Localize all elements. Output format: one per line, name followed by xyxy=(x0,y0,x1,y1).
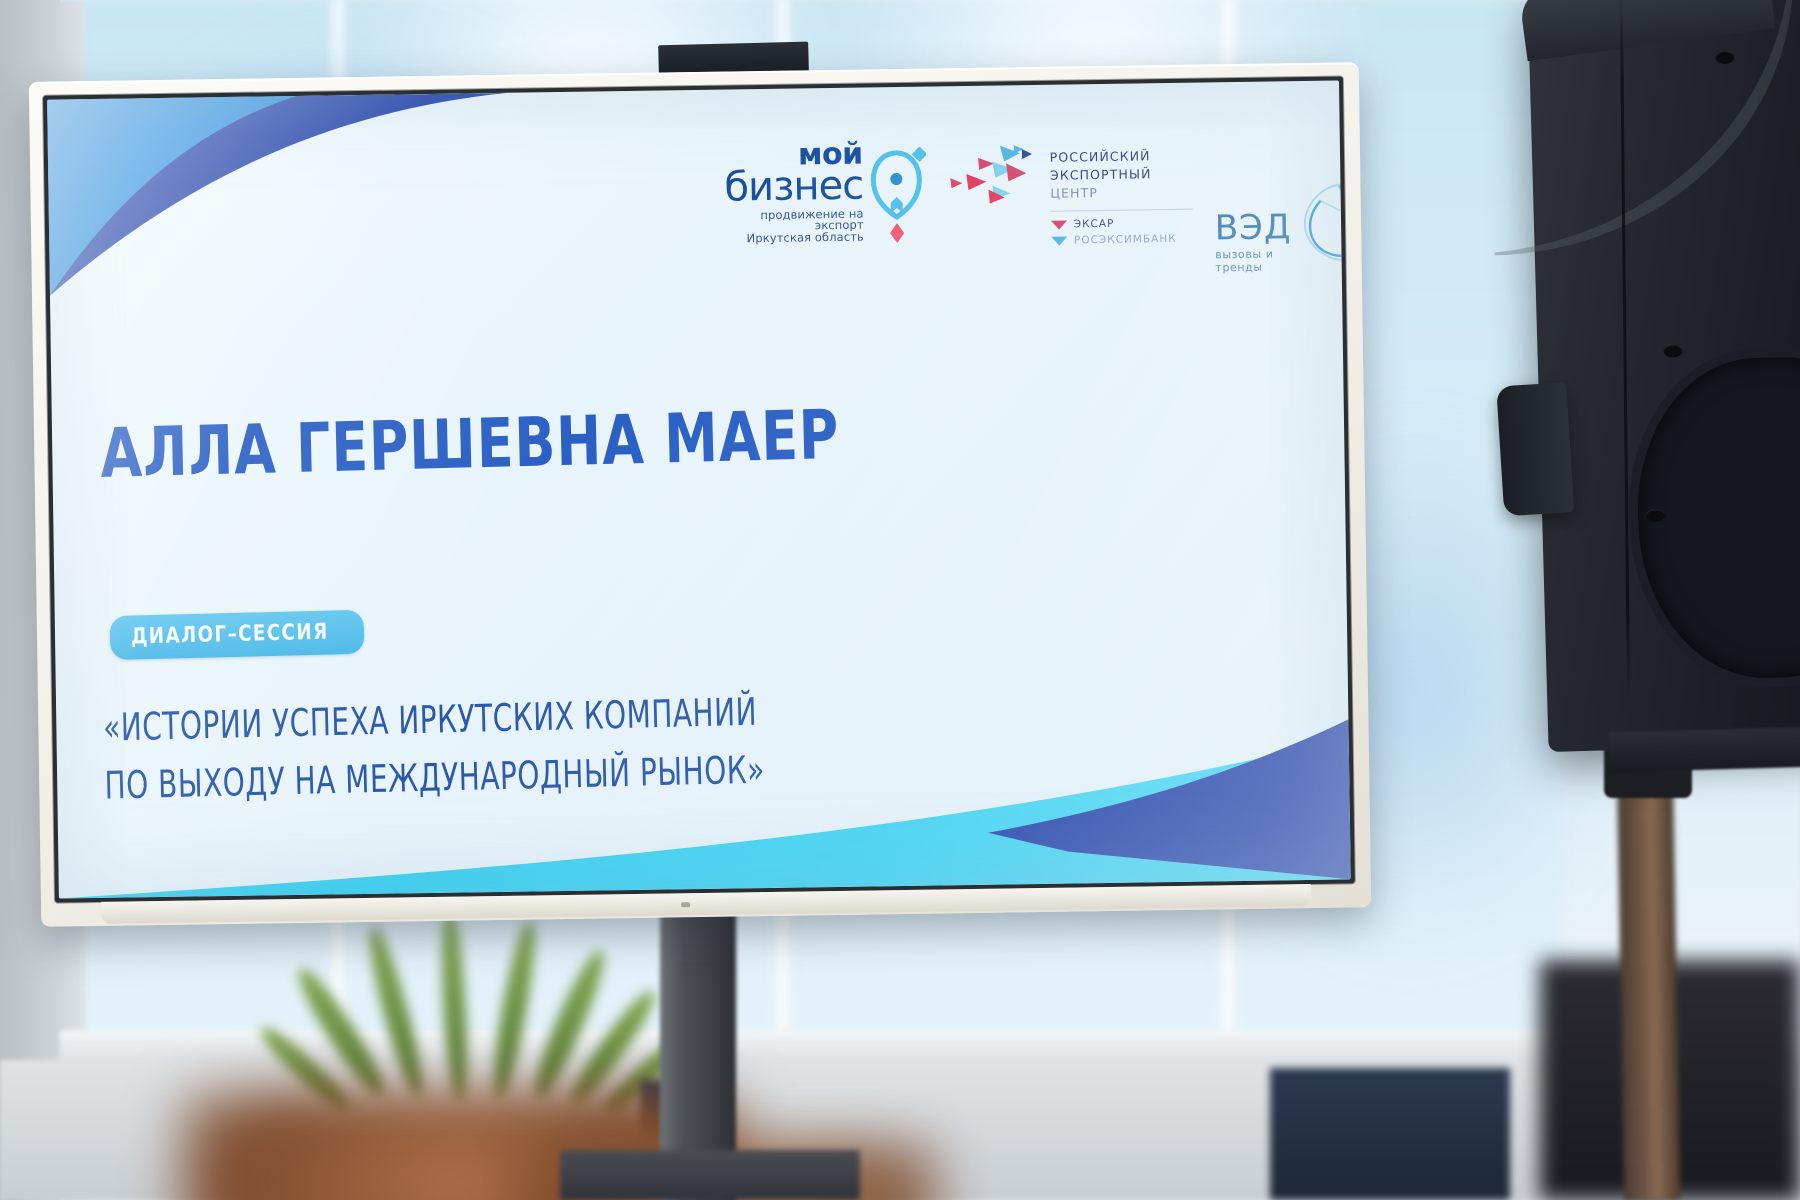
logo-rec-text: РОССИЙСКИЙ ЭКСПОРТНЫЙ ЦЕНТР ЭКСАР РОСЭКС… xyxy=(1050,141,1194,251)
photo-scene: мой бизнес продвижение на экспорт Иркутс… xyxy=(0,0,1800,1200)
slide-subtitle: «ИСТОРИИ УСПЕХА ИРКУТСКИХ КОМПАНИЙ ПО ВЫ… xyxy=(102,675,1105,815)
logo-rec-line-2-light: ЦЕНТР xyxy=(1050,185,1098,201)
slide-corner-top-left-decoration xyxy=(47,93,510,310)
logo-rec-line-1: РОССИЙСКИЙ xyxy=(1050,147,1192,167)
slide-badge: ДИАЛОГ–СЕССИЯ xyxy=(110,610,365,660)
logo-rec-sub-label: ЭКСАР xyxy=(1074,218,1115,231)
pa-speaker xyxy=(1527,0,1800,752)
logo-my-business: мой бизнес продвижение на экспорт Иркутс… xyxy=(724,139,927,246)
tv-stand-foot xyxy=(560,1150,860,1200)
logo-my-business-text: мой бизнес продвижение на экспорт Иркутс… xyxy=(724,140,864,245)
logo-rec-sub-roseximbank: РОСЭКСИМБАНК xyxy=(1051,233,1193,247)
slide-badge-label: ДИАЛОГ–СЕССИЯ xyxy=(131,620,329,650)
logo-rec-divider xyxy=(1051,209,1193,212)
logo-rec-sub-label: РОСЭКСИМБАНК xyxy=(1074,233,1177,247)
logo-ved: ВЭД вызовы и тренды xyxy=(1214,176,1351,275)
wall-mounted-display: мой бизнес продвижение на экспорт Иркутс… xyxy=(29,62,1371,927)
logo-my-business-tagline-2: Иркутская область xyxy=(725,231,864,245)
logo-rec-line-2-strong: ЭКСПОРТНЫЙ xyxy=(1050,166,1152,183)
triangle-icon xyxy=(1051,220,1067,229)
stand-panel xyxy=(1270,1068,1510,1200)
slide-logo-row: мой бизнес продвижение на экспорт Иркутс… xyxy=(724,133,1316,282)
speaker-handle xyxy=(1496,382,1574,516)
triangle-cluster-icon-svg xyxy=(948,143,1041,206)
rocket-pin-icon-svg xyxy=(870,147,927,244)
tv-ir-receiver xyxy=(681,902,690,907)
corner-wedge-top-left-svg xyxy=(47,93,510,310)
slide-screen: мой бизнес продвижение на экспорт Иркутс… xyxy=(47,80,1351,898)
logo-ved-tagline: вызовы и тренды xyxy=(1215,247,1292,274)
rocket-pin-icon xyxy=(870,147,927,244)
triangle-cluster-icon xyxy=(948,143,1041,206)
logo-my-business-word-bottom: бизнес xyxy=(724,168,863,207)
logo-ved-text: ВЭД вызовы и тренды xyxy=(1215,210,1293,274)
triangle-icon xyxy=(1051,236,1067,245)
logo-ved-word: ВЭД xyxy=(1215,210,1292,245)
logo-russian-export-center: РОССИЙСКИЙ ЭКСПОРТНЫЙ ЦЕНТР ЭКСАР РОСЭКС… xyxy=(948,141,1194,253)
speaker-base xyxy=(1608,726,1800,772)
logo-rec-line-2: ЭКСПОРТНЫЙ ЦЕНТР xyxy=(1050,165,1193,203)
slide-title: АЛЛА ГЕРШЕВНА МАЕР xyxy=(100,399,946,489)
logo-rec-sub-exiar: ЭКСАР xyxy=(1051,217,1193,231)
